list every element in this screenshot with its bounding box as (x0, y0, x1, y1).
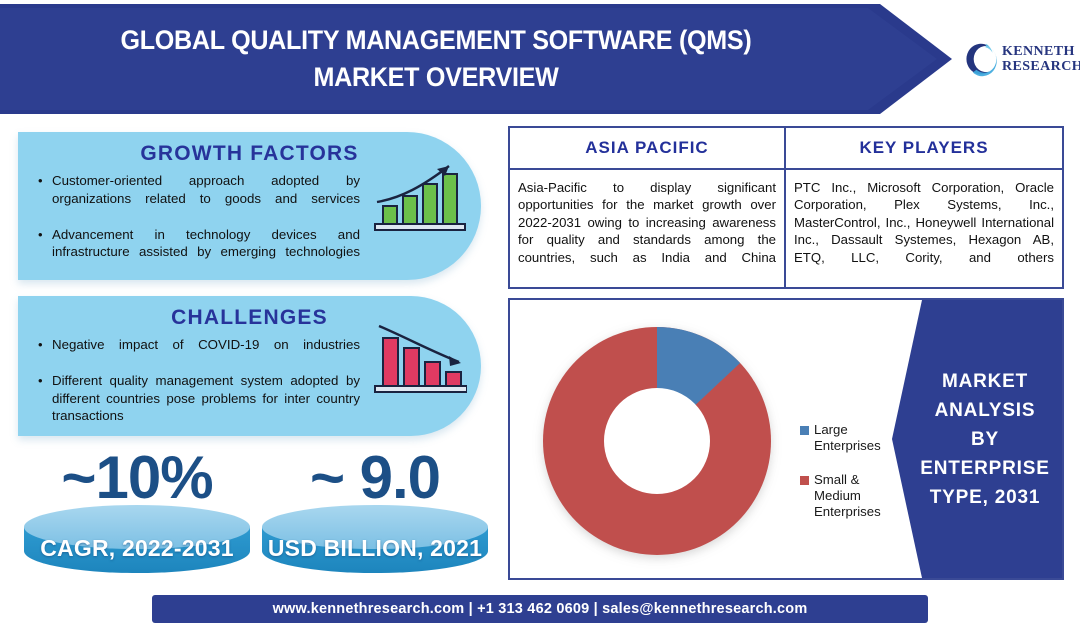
table-column-key-players: KEY PLAYERS PTC Inc., Microsoft Corporat… (786, 128, 1062, 287)
chart-callout-banner: MARKET ANALYSIS BY ENTERPRISE TYPE, 2031 (892, 300, 1062, 578)
chart-callout-text: MARKET ANALYSIS BY ENTERPRISE TYPE, 2031 (902, 367, 1052, 512)
stat-market-size-value: ~ 9.0 (252, 443, 498, 512)
stat-market-size-label: USD BILLION, 2021 (252, 535, 498, 562)
footer-contact-text: www.kennethresearch.com | +1 313 462 060… (273, 601, 808, 617)
list-item-text: Customer-oriented approach adopted by or… (52, 173, 360, 206)
chart-legend: Large Enterprises Small & Medium Enterpr… (800, 422, 906, 538)
legend-label: Large Enterprises (814, 422, 906, 454)
legend-item-small-medium-enterprises: Small & Medium Enterprises (800, 472, 906, 520)
ascending-bar-chart-icon (371, 160, 467, 239)
page-title: GLOBAL QUALITY MANAGEMENT SOFTWARE (QMS)… (64, 22, 808, 96)
list-item-text: Different quality management system adop… (52, 373, 360, 423)
legend-label: Small & Medium Enterprises (814, 472, 906, 520)
chart-callout-line-5: TYPE, 2031 (918, 483, 1052, 512)
table-cell-asia-pacific: Asia-Pacific to display significant oppo… (510, 170, 784, 291)
list-item-text: Advancement in technology devices and in… (52, 227, 360, 260)
stat-cagr: ~10% CAGR, 2022-2031 (14, 443, 260, 579)
list-item: •Negative impact of COVID-19 on industri… (30, 336, 360, 371)
chart-callout-line-1: MARKET (918, 367, 1052, 396)
growth-factors-list: •Customer-oriented approach adopted by o… (30, 172, 360, 278)
bullet-icon: • (38, 172, 43, 190)
list-item: •Customer-oriented approach adopted by o… (30, 172, 360, 225)
brand-logo-text: KENNETH RESEARCH (1002, 44, 1080, 74)
brand-logo-line-1: KENNETH (1002, 44, 1080, 59)
challenges-list: •Negative impact of COVID-19 on industri… (30, 336, 360, 442)
bullet-icon: • (38, 372, 43, 390)
chart-callout-line-2: ANALYSIS (918, 396, 1052, 425)
stat-market-size: ~ 9.0 USD BILLION, 2021 (252, 443, 498, 579)
footer-contact-bar: www.kennethresearch.com | +1 313 462 060… (152, 595, 928, 623)
table-header-asia-pacific: ASIA PACIFIC (510, 128, 784, 170)
bullet-icon: • (38, 226, 43, 244)
legend-swatch-red-icon (800, 476, 809, 485)
stat-cagr-value: ~10% (14, 443, 260, 512)
kenneth-research-ring-icon (962, 40, 998, 78)
table-cell-key-players: PTC Inc., Microsoft Corporation, Oracle … (786, 170, 1062, 291)
chart-panel: Large Enterprises Small & Medium Enterpr… (508, 298, 1064, 580)
donut-chart (528, 312, 786, 570)
page-title-line-1: GLOBAL QUALITY MANAGEMENT SOFTWARE (QMS) (64, 22, 808, 59)
infographic-page: GLOBAL QUALITY MANAGEMENT SOFTWARE (QMS)… (0, 0, 1080, 636)
list-item: •Advancement in technology devices and i… (30, 226, 360, 279)
legend-swatch-blue-icon (800, 426, 809, 435)
chart-callout-line-4: ENTERPRISE (918, 454, 1052, 483)
chart-callout-line-3: BY (918, 425, 1052, 454)
legend-item-large-enterprises: Large Enterprises (800, 422, 906, 454)
table-header-key-players: KEY PLAYERS (786, 128, 1062, 170)
page-title-line-2: MARKET OVERVIEW (64, 59, 808, 96)
growth-factors-card: GROWTH FACTORS •Customer-oriented approa… (18, 132, 481, 280)
table-column-asia-pacific: ASIA PACIFIC Asia-Pacific to display sig… (510, 128, 786, 287)
info-table: ASIA PACIFIC Asia-Pacific to display sig… (508, 126, 1064, 289)
list-item-text: Negative impact of COVID-19 on industrie… (52, 337, 360, 352)
descending-bar-chart-icon (371, 322, 467, 401)
brand-logo-line-2: RESEARCH (1002, 59, 1080, 74)
challenges-card: CHALLENGES •Negative impact of COVID-19 … (18, 296, 481, 436)
header-banner: GLOBAL QUALITY MANAGEMENT SOFTWARE (QMS)… (0, 4, 952, 114)
stat-cagr-label: CAGR, 2022-2031 (14, 535, 260, 562)
list-item: •Different quality management system ado… (30, 372, 360, 442)
bullet-icon: • (38, 336, 43, 354)
brand-logo: KENNETH RESEARCH (962, 34, 1074, 84)
